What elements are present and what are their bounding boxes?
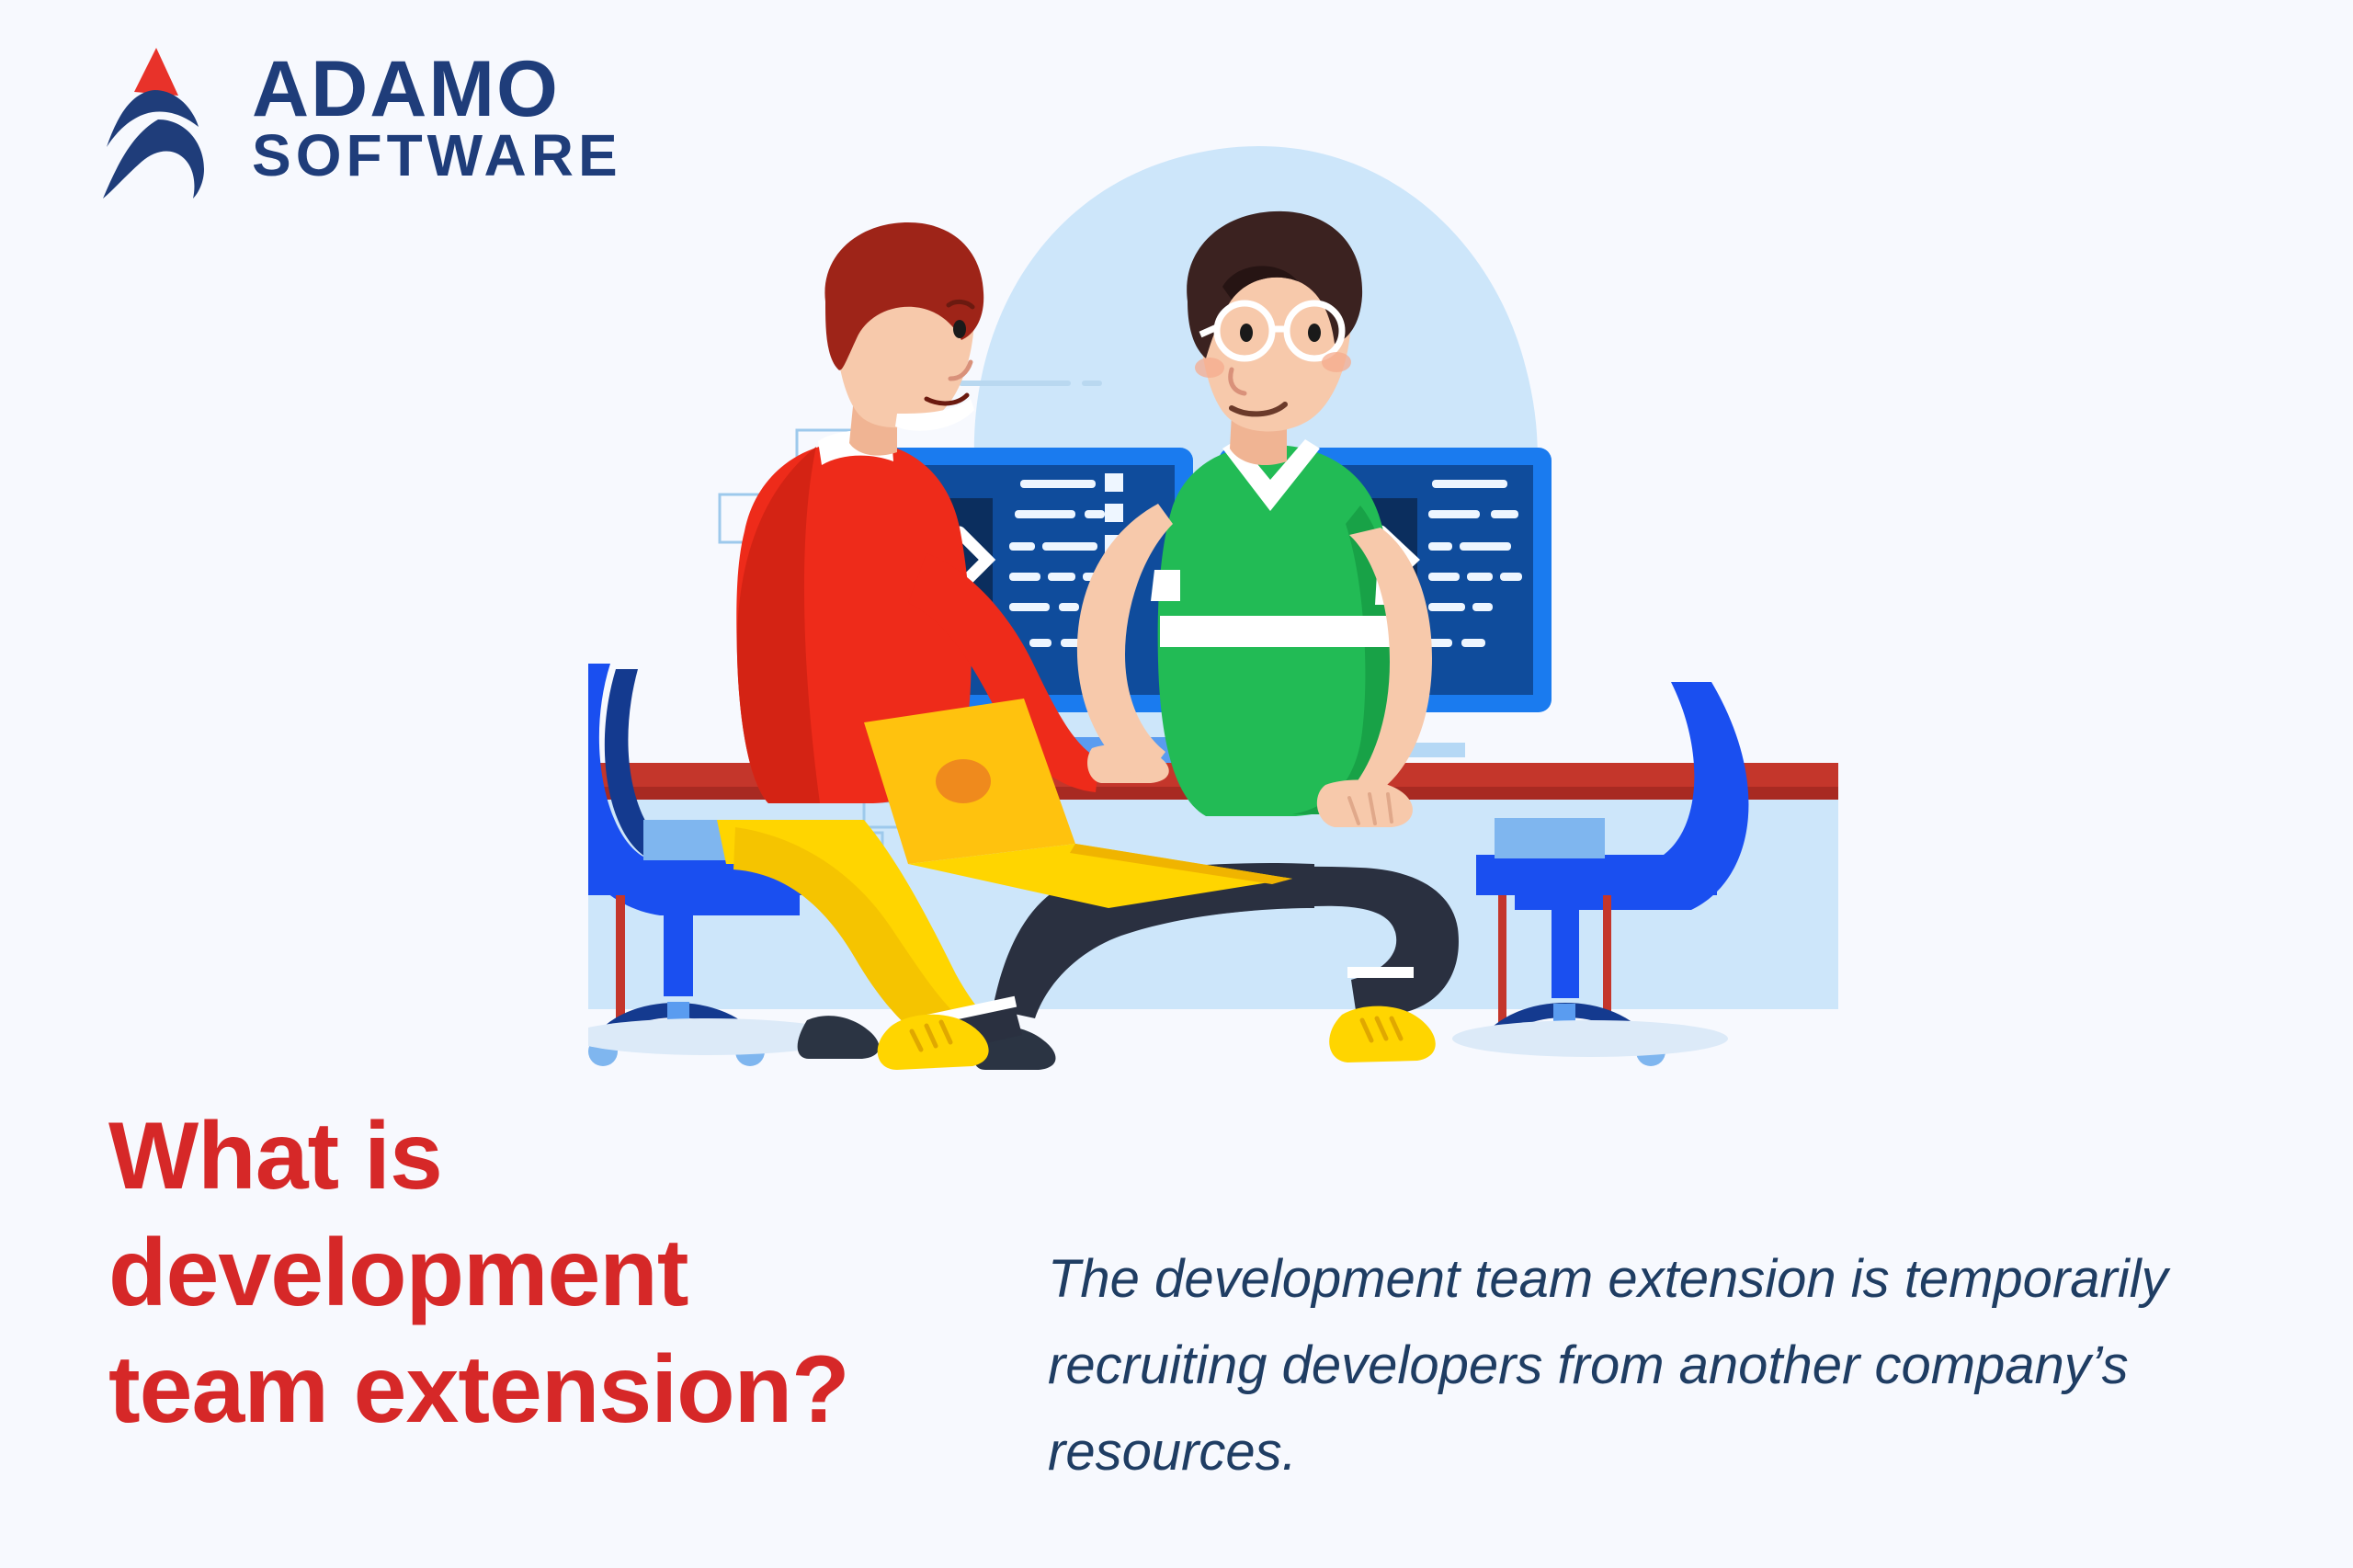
adamo-arrow-logo-icon [90,35,219,200]
developers-illustration-svg [588,138,1838,1121]
headline-line-3: team extension? [108,1332,1009,1449]
page-title: What is development team extension? [108,1098,1009,1449]
brand-name-line1: ADAMO [252,51,622,128]
hero-illustration [588,138,1838,1121]
headline-line-1: What is [108,1098,1009,1215]
body-paragraph: The development team extension is tempor… [1048,1236,2178,1495]
brand-name-line2: SOFTWARE [252,128,622,184]
brand-wordmark: ADAMO SOFTWARE [252,51,622,184]
headline-line-2: development [108,1215,1009,1332]
brand-logo: ADAMO SOFTWARE [90,35,622,200]
